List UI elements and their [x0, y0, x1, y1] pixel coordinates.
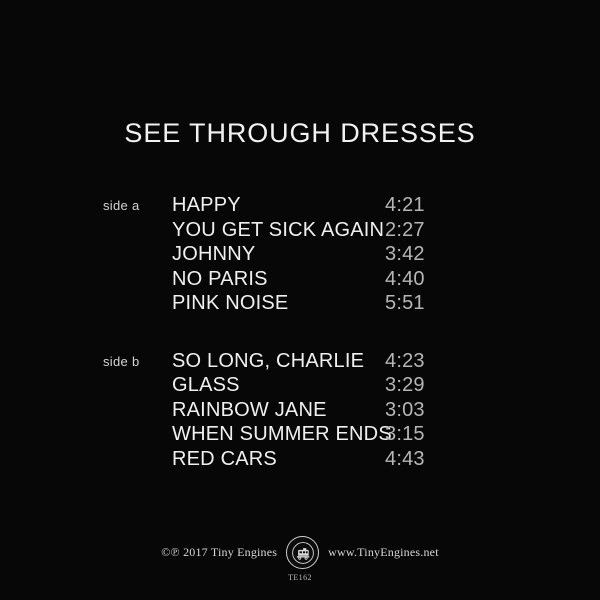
footer: ©℗ 2017 Tiny Engines www.TinyEngines.net: [0, 536, 600, 582]
track-row: SO LONG, CHARLIE4:23: [172, 349, 600, 374]
track-duration: 4:21: [385, 193, 425, 218]
track-row: NO PARIS4:40: [172, 267, 600, 292]
track-title: RAINBOW JANE: [172, 398, 327, 423]
album-back-cover: SEE THROUGH DRESSES side aHAPPY4:21YOU G…: [0, 0, 600, 600]
track-title: YOU GET SICK AGAIN: [172, 218, 384, 243]
track-duration: 3:42: [385, 242, 425, 267]
track-title: SO LONG, CHARLIE: [172, 349, 364, 374]
catalog-number: TE162: [0, 573, 600, 582]
track-rows: HAPPY4:21YOU GET SICK AGAIN2:27JOHNNY3:4…: [172, 193, 600, 316]
track-row: RED CARS4:43: [172, 447, 600, 472]
track-listing: side aHAPPY4:21YOU GET SICK AGAIN2:27JOH…: [0, 193, 600, 504]
track-title: RED CARS: [172, 447, 277, 472]
track-duration: 2:27: [385, 218, 425, 243]
track-duration: 3:29: [385, 373, 425, 398]
side-block: side bSO LONG, CHARLIE4:23GLASS3:29RAINB…: [0, 349, 600, 472]
track-row: JOHNNY3:42: [172, 242, 600, 267]
track-title: JOHNNY: [172, 242, 255, 267]
track-title: WHEN SUMMER ENDS: [172, 422, 392, 447]
website-text: www.TinyEngines.net: [328, 545, 439, 560]
tiny-engines-logo-icon: [286, 536, 319, 569]
copyright-text: ©℗ 2017 Tiny Engines: [161, 545, 277, 560]
track-title: PINK NOISE: [172, 291, 288, 316]
track-title: NO PARIS: [172, 267, 268, 292]
page-title: SEE THROUGH DRESSES: [0, 118, 600, 149]
track-row: YOU GET SICK AGAIN2:27: [172, 218, 600, 243]
track-duration: 4:40: [385, 267, 425, 292]
track-title: GLASS: [172, 373, 240, 398]
track-row: GLASS3:29: [172, 373, 600, 398]
track-duration: 3:03: [385, 398, 425, 423]
track-row: WHEN SUMMER ENDS3:15: [172, 422, 600, 447]
track-rows: SO LONG, CHARLIE4:23GLASS3:29RAINBOW JAN…: [172, 349, 600, 472]
side-label-side-b: side b: [103, 354, 163, 369]
track-duration: 4:43: [385, 447, 425, 472]
track-duration: 4:23: [385, 349, 425, 374]
footer-line: ©℗ 2017 Tiny Engines www.TinyEngines.net: [0, 536, 600, 569]
track-row: HAPPY4:21: [172, 193, 600, 218]
side-label-side-a: side a: [103, 198, 163, 213]
track-row: PINK NOISE5:51: [172, 291, 600, 316]
track-row: RAINBOW JANE3:03: [172, 398, 600, 423]
track-duration: 5:51: [385, 291, 425, 316]
side-block: side aHAPPY4:21YOU GET SICK AGAIN2:27JOH…: [0, 193, 600, 316]
track-title: HAPPY: [172, 193, 241, 218]
track-duration: 3:15: [385, 422, 425, 447]
